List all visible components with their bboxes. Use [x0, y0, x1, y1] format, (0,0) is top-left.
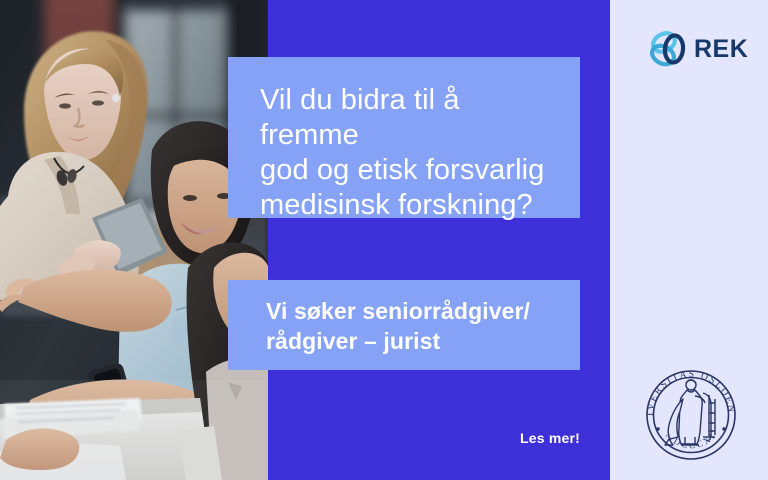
uio-seal-graphic: UNIVERSITAS OSLOENSIS MDCCCXI — [639, 363, 743, 467]
job-title-text: Vi søker seniorrådgiver/ rådgiver – juri… — [266, 296, 558, 356]
job-title-box: Vi søker seniorrådgiver/ rådgiver – juri… — [228, 280, 580, 370]
interlocking-rings-icon — [648, 28, 690, 70]
headline-box: Vil du bidra til å fremme god og etisk f… — [228, 57, 580, 218]
rek-logo[interactable]: REK — [648, 26, 748, 72]
read-more-link[interactable]: Les mer! — [430, 430, 580, 446]
rek-wordmark: REK — [694, 37, 748, 62]
headline-text: Vil du bidra til å fremme god og etisk f… — [260, 83, 550, 223]
uio-seal: UNIVERSITAS OSLOENSIS MDCCCXI — [639, 363, 743, 467]
job-advert-banner: Vil du bidra til å fremme god og etisk f… — [0, 0, 768, 480]
